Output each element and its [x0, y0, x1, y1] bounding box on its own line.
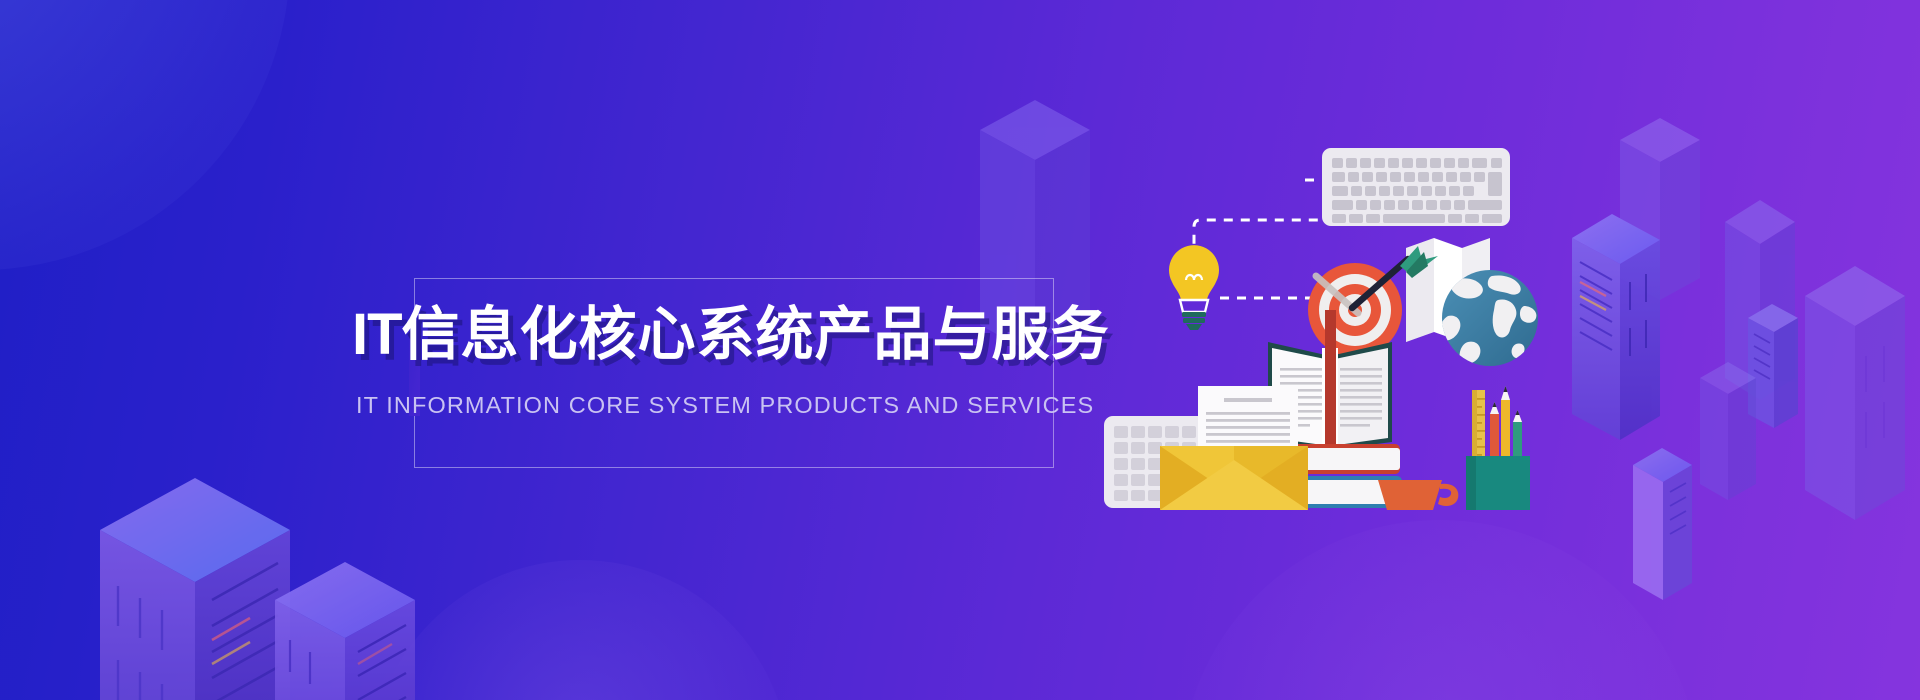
hero-banner: IT信息化核心系统产品与服务 IT INFORMATION CORE SYSTE…: [0, 0, 1920, 700]
tower-right-small-low: [1633, 448, 1692, 600]
keyboard-top: [1322, 148, 1510, 226]
tower-right-b: [1572, 214, 1660, 440]
tower-left-large: [100, 478, 290, 700]
tower-right-e: [1700, 362, 1756, 500]
lightbulb-icon: [1169, 245, 1219, 330]
coffee-cup-icon: [1378, 480, 1458, 510]
page-title-lead: IT: [352, 302, 402, 367]
illustration-svg: [1100, 120, 1560, 580]
page-subtitle: IT INFORMATION CORE SYSTEM PRODUCTS AND …: [356, 394, 1116, 418]
page-title-cjk: 信息化核心系统产品与服务: [402, 302, 1110, 367]
page-title: IT信息化核心系统产品与服务: [352, 306, 1112, 364]
tower-right-f: [1805, 266, 1905, 520]
envelope-icon: [1160, 446, 1308, 510]
pencil-holder-icon: [1466, 386, 1530, 510]
it-workspace-illustration: [1100, 120, 1560, 580]
tower-left-small: [275, 562, 415, 700]
